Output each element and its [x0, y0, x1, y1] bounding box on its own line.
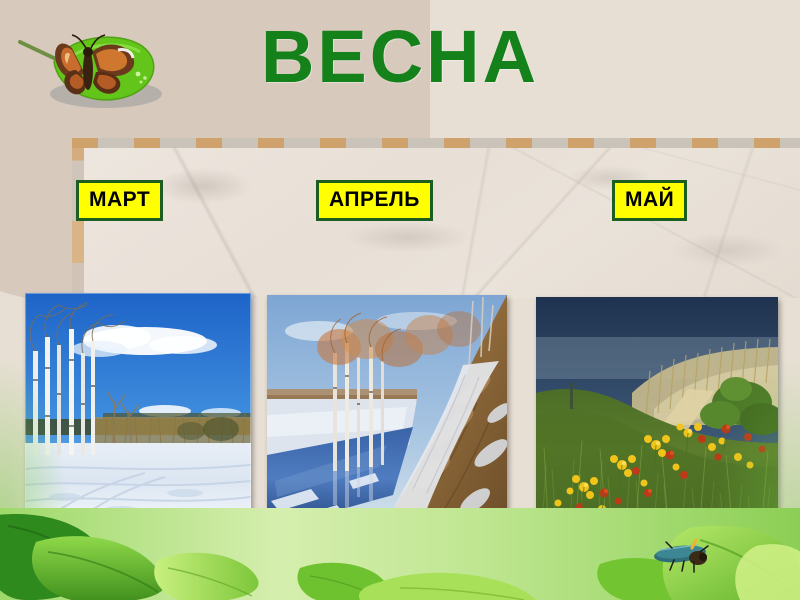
spring-seasons-slide: ВЕСНА: [0, 0, 800, 600]
photo-march-snowy-birch-field[interactable]: [25, 293, 251, 525]
photo-may-flowering-meadow[interactable]: [536, 297, 778, 527]
marble-veining: [72, 138, 800, 298]
month-label-may[interactable]: МАЙ: [612, 180, 687, 221]
month-label-april[interactable]: АПРЕЛЬ: [316, 180, 433, 221]
marble-panel: [72, 138, 800, 298]
photo-april-thaw-painting[interactable]: [267, 295, 507, 530]
green-leaves-band: [0, 508, 800, 600]
panel-top-dashed-border: [72, 138, 800, 148]
month-label-march[interactable]: МАРТ: [76, 180, 163, 221]
butterfly-on-leaf-icon: [14, 18, 184, 118]
